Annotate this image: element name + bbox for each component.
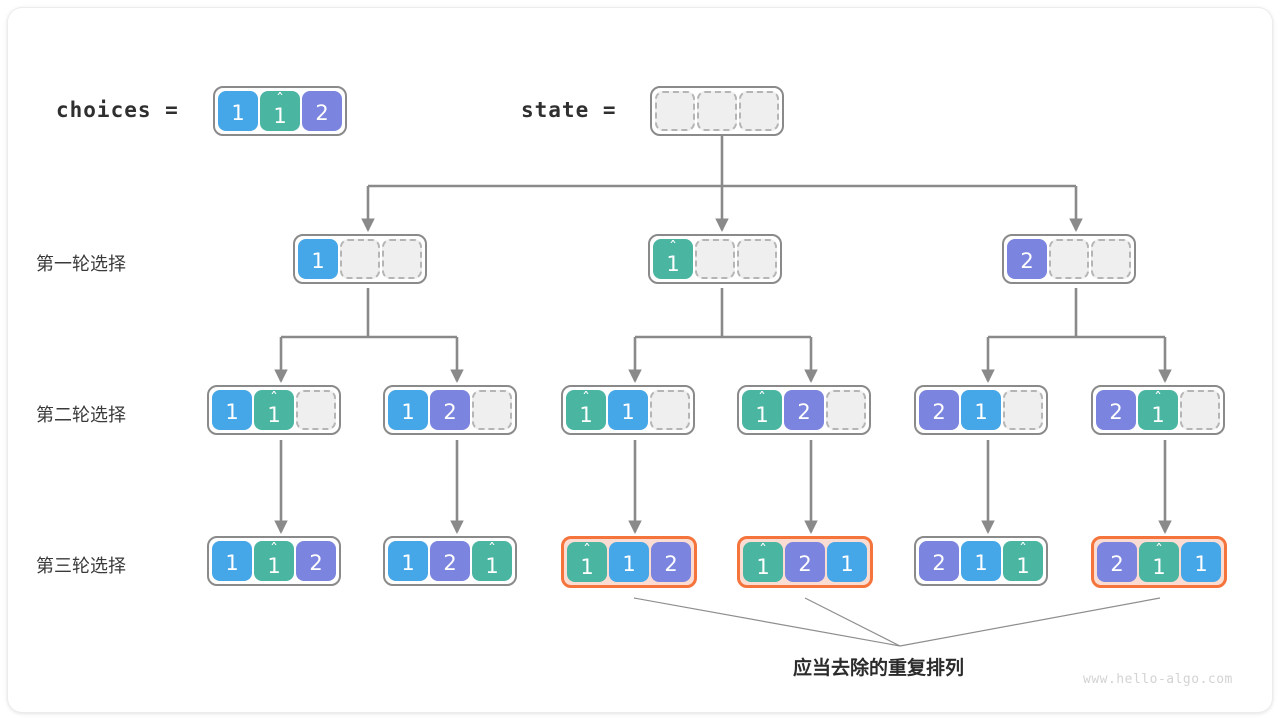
cell-value: 1 xyxy=(231,103,244,124)
state-node-2-5-cell-0: 2 xyxy=(919,390,959,430)
cell-value: 1 xyxy=(580,557,593,578)
cell-value: 1 xyxy=(273,106,286,127)
state-node-1-1: 1 xyxy=(293,234,427,284)
state-node-2-2-cell-1: 2 xyxy=(430,390,470,430)
state-node-2-5: 21 xyxy=(914,385,1048,435)
state-node-1-1-cell-1 xyxy=(340,239,380,279)
cell-value: 1 xyxy=(311,251,324,272)
cell-value: 1 xyxy=(225,402,238,423)
diagram-card xyxy=(8,8,1272,712)
state-node-3-4-cell-1: 2 xyxy=(785,542,825,582)
state-node-2-3-cell-0: ˆ1 xyxy=(566,390,606,430)
row-label-round-3: 第三轮选择 xyxy=(36,552,126,578)
state-node-3-6-cell-1: ˆ1 xyxy=(1139,542,1179,582)
choices-array: 1ˆ12 xyxy=(213,86,347,136)
cell-value: 1 xyxy=(974,402,987,423)
cell-value: 2 xyxy=(1109,402,1122,423)
cell-value: 2 xyxy=(1110,554,1123,575)
state-node-2-3-cell-1: 1 xyxy=(608,390,648,430)
cell-value: 1 xyxy=(485,556,498,577)
cell-value: 2 xyxy=(315,103,328,124)
state-node-2-3: ˆ11 xyxy=(561,385,695,435)
state-node-2-2: 12 xyxy=(383,385,517,435)
state-node-3-3-cell-2: 2 xyxy=(651,542,691,582)
cell-value: 1 xyxy=(756,557,769,578)
state-node-2-2-cell-2 xyxy=(472,390,512,430)
state-node-1-1-cell-2 xyxy=(382,239,422,279)
cell-value: 2 xyxy=(664,554,677,575)
state-cell-0 xyxy=(655,91,695,131)
state-node-2-4-cell-0: ˆ1 xyxy=(742,390,782,430)
diagram-canvas: choices = 1ˆ12 state = 第一轮选择 第二轮选择 第三轮选择… xyxy=(0,0,1280,720)
state-node-1-2: ˆ1 xyxy=(648,234,782,284)
caption-duplicate-permutations: 应当去除的重复排列 xyxy=(793,653,964,680)
cell-value: 2 xyxy=(798,554,811,575)
state-node-3-5: 21ˆ1 xyxy=(914,536,1048,586)
row-label-round-2: 第二轮选择 xyxy=(36,401,126,427)
state-cell-2 xyxy=(739,91,779,131)
state-node-2-6: 2ˆ1 xyxy=(1091,385,1225,435)
state-cell-1 xyxy=(697,91,737,131)
state-node-2-4-cell-2 xyxy=(826,390,866,430)
state-node-2-4-cell-1: 2 xyxy=(784,390,824,430)
cell-value: 2 xyxy=(1020,251,1033,272)
cell-value: 1 xyxy=(225,553,238,574)
cell-value: 2 xyxy=(932,553,945,574)
state-node-2-2-cell-0: 1 xyxy=(388,390,428,430)
state-node-3-3-cell-1: 1 xyxy=(609,542,649,582)
choices-cell-2: 2 xyxy=(302,91,342,131)
state-node-2-4: ˆ12 xyxy=(737,385,871,435)
cell-value: 2 xyxy=(797,402,810,423)
state-node-2-6-cell-0: 2 xyxy=(1096,390,1136,430)
watermark: www.hello-algo.com xyxy=(1083,672,1233,687)
cell-value: 1 xyxy=(666,254,679,275)
choices-cell-1: ˆ1 xyxy=(260,91,300,131)
state-label: state = xyxy=(521,98,617,122)
state-node-3-1-cell-0: 1 xyxy=(212,541,252,581)
state-node-2-6-cell-1: ˆ1 xyxy=(1138,390,1178,430)
cell-value: 1 xyxy=(1152,557,1165,578)
cell-value: 1 xyxy=(267,556,280,577)
state-node-1-1-cell-0: 1 xyxy=(298,239,338,279)
cell-value: 1 xyxy=(267,405,280,426)
state-node-2-1-cell-1: ˆ1 xyxy=(254,390,294,430)
state-node-3-2-cell-1: 2 xyxy=(430,541,470,581)
state-node-3-6-cell-2: 1 xyxy=(1181,542,1221,582)
choices-label: choices = xyxy=(56,98,179,122)
cell-value: 1 xyxy=(1194,554,1207,575)
state-node-3-3: ˆ112 xyxy=(561,536,697,588)
state-node-2-1: 1ˆ1 xyxy=(207,385,341,435)
state-node-3-5-cell-1: 1 xyxy=(961,541,1001,581)
state-node-2-5-cell-2 xyxy=(1003,390,1043,430)
state-node-1-2-cell-1 xyxy=(695,239,735,279)
state-node-3-5-cell-2: ˆ1 xyxy=(1003,541,1043,581)
state-node-3-6-cell-0: 2 xyxy=(1097,542,1137,582)
state-node-2-1-cell-2 xyxy=(296,390,336,430)
state-node-1-3: 2 xyxy=(1002,234,1136,284)
state-node-3-1-cell-1: ˆ1 xyxy=(254,541,294,581)
cell-value: 2 xyxy=(932,402,945,423)
state-node-3-4-cell-0: ˆ1 xyxy=(743,542,783,582)
state-node-3-1-cell-2: 2 xyxy=(296,541,336,581)
state-node-1-2-cell-2 xyxy=(737,239,777,279)
state-node-2-5-cell-1: 1 xyxy=(961,390,1001,430)
state-node-1-3-cell-2 xyxy=(1091,239,1131,279)
state-node-2-6-cell-2 xyxy=(1180,390,1220,430)
cell-value: 1 xyxy=(974,553,987,574)
state-node-3-4: ˆ121 xyxy=(737,536,873,588)
state-node-3-6: 2ˆ11 xyxy=(1091,536,1227,588)
state-node-3-5-cell-0: 2 xyxy=(919,541,959,581)
state-node-1-2-cell-0: ˆ1 xyxy=(653,239,693,279)
cell-value: 1 xyxy=(621,402,634,423)
state-node-3-4-cell-2: 1 xyxy=(827,542,867,582)
cell-value: 1 xyxy=(579,405,592,426)
cell-value: 1 xyxy=(622,554,635,575)
state-node-2-3-cell-2 xyxy=(650,390,690,430)
cell-value: 1 xyxy=(401,553,414,574)
cell-value: 1 xyxy=(755,405,768,426)
cell-value: 1 xyxy=(840,554,853,575)
cell-value: 1 xyxy=(401,402,414,423)
row-label-round-1: 第一轮选择 xyxy=(36,250,126,276)
state-node-3-1: 1ˆ12 xyxy=(207,536,341,586)
state-node-2-1-cell-0: 1 xyxy=(212,390,252,430)
cell-value: 1 xyxy=(1151,405,1164,426)
state-node-3-3-cell-0: ˆ1 xyxy=(567,542,607,582)
cell-value: 1 xyxy=(1016,556,1029,577)
state-node-3-2-cell-2: ˆ1 xyxy=(472,541,512,581)
choices-cell-0: 1 xyxy=(218,91,258,131)
state-node-3-2-cell-0: 1 xyxy=(388,541,428,581)
state-node-3-2: 12ˆ1 xyxy=(383,536,517,586)
state-array xyxy=(650,86,784,136)
state-node-1-3-cell-0: 2 xyxy=(1007,239,1047,279)
cell-value: 2 xyxy=(443,553,456,574)
state-node-1-3-cell-1 xyxy=(1049,239,1089,279)
cell-value: 2 xyxy=(309,553,322,574)
cell-value: 2 xyxy=(443,402,456,423)
